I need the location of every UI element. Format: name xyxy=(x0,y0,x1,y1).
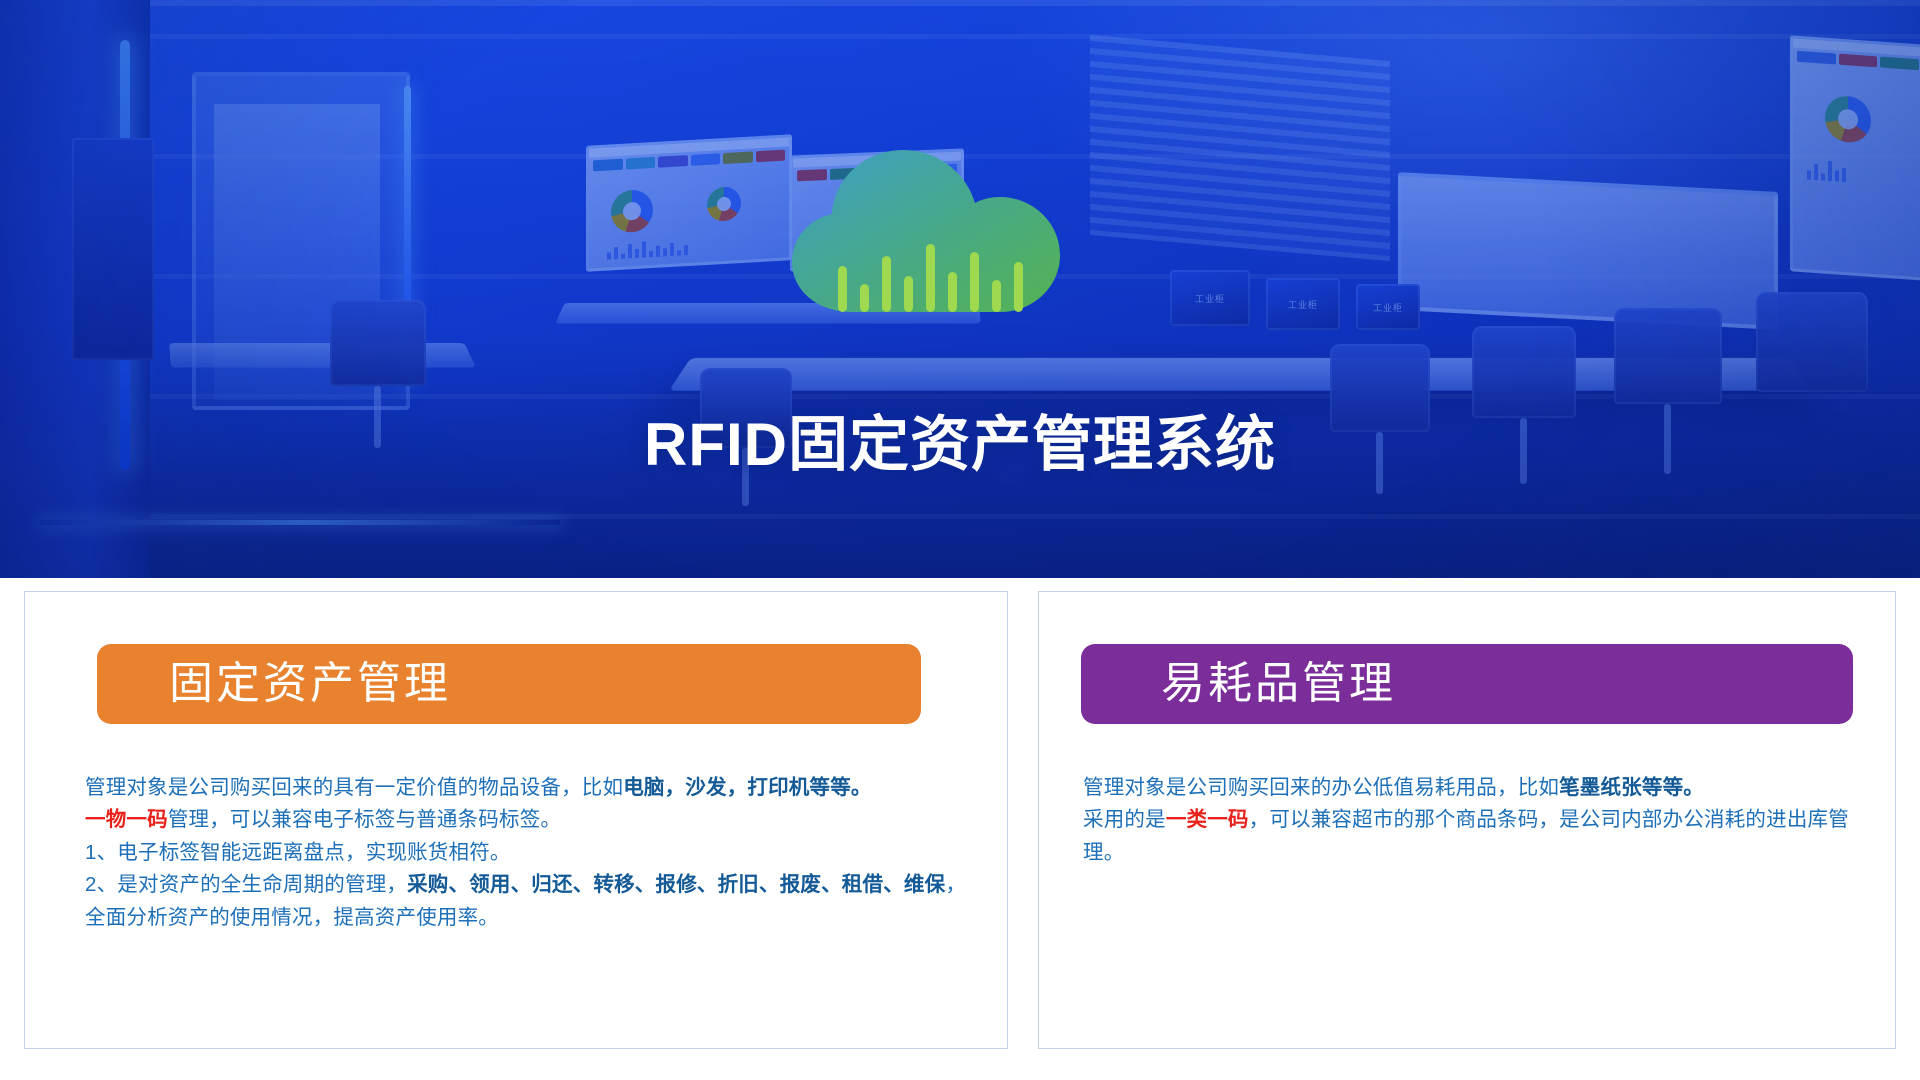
paragraph: 采用的是一类一码，可以兼容超市的那个商品条码，是公司内部办公消耗的进出库管理。 xyxy=(1083,804,1873,869)
hero-banner: 工业柜 工业柜 工业柜 xyxy=(0,0,1920,578)
card-title-pill-fixed-asset: 固定资产管理 xyxy=(97,644,921,724)
card-title-pill-consumables: 易耗品管理 xyxy=(1081,644,1853,724)
text-segment-highlight: 一物一码 xyxy=(85,808,168,831)
text-segment: 管理，可以兼容电子标签与普通条码标签。 xyxy=(168,808,561,831)
text-segment-highlight: 一类一码 xyxy=(1166,808,1249,831)
paragraph: 一物一码管理，可以兼容电子标签与普通条码标签。 xyxy=(85,804,975,836)
card-body-fixed-asset: 管理对象是公司购买回来的具有一定价值的物品设备，比如电脑，沙发，打印机等等。 一… xyxy=(85,772,975,934)
cloud-with-bars-icon xyxy=(762,116,1102,346)
text-segment: 管理对象是公司购买回来的办公低值易耗用品，比如 xyxy=(1083,776,1559,799)
card-consumables-management: 易耗品管理 管理对象是公司购买回来的办公低值易耗用品，比如笔墨纸张等等。 采用的… xyxy=(1038,591,1896,1049)
text-segment-bold: 笔墨纸张等等。 xyxy=(1559,776,1704,799)
text-segment: 管理对象是公司购买回来的具有一定价值的物品设备，比如 xyxy=(85,776,623,799)
page-root: 工业柜 工业柜 工业柜 xyxy=(0,0,1920,1080)
paragraph: 1、电子标签智能远距离盘点，实现账货相符。 xyxy=(85,837,975,869)
text-segment: 1、电子标签智能远距离盘点，实现账货相符。 xyxy=(85,841,511,864)
cards-section: 固定资产管理 管理对象是公司购买回来的具有一定价值的物品设备，比如电脑，沙发，打… xyxy=(0,578,1920,1080)
page-title: RFID固定资产管理系统 xyxy=(0,396,1920,483)
text-segment: 2、是对资产的全生命周期的管理， xyxy=(85,873,407,896)
paragraph: 管理对象是公司购买回来的办公低值易耗用品，比如笔墨纸张等等。 xyxy=(1083,772,1873,804)
card-body-consumables: 管理对象是公司购买回来的办公低值易耗用品，比如笔墨纸张等等。 采用的是一类一码，… xyxy=(1083,772,1873,869)
card-fixed-asset-management: 固定资产管理 管理对象是公司购买回来的具有一定价值的物品设备，比如电脑，沙发，打… xyxy=(24,591,1008,1049)
text-segment-bold: 采购、领用、归还、转移、报修、折旧、报废、租借、维保 xyxy=(407,873,945,896)
paragraph: 管理对象是公司购买回来的具有一定价值的物品设备，比如电脑，沙发，打印机等等。 xyxy=(85,772,975,804)
text-segment-bold: 电脑，沙发，打印机等等。 xyxy=(623,776,871,799)
text-segment: 采用的是 xyxy=(1083,808,1166,831)
paragraph: 2、是对资产的全生命周期的管理，采购、领用、归还、转移、报修、折旧、报废、租借、… xyxy=(85,869,975,934)
card-title-label: 易耗品管理 xyxy=(1161,662,1396,706)
card-title-label: 固定资产管理 xyxy=(169,662,451,706)
